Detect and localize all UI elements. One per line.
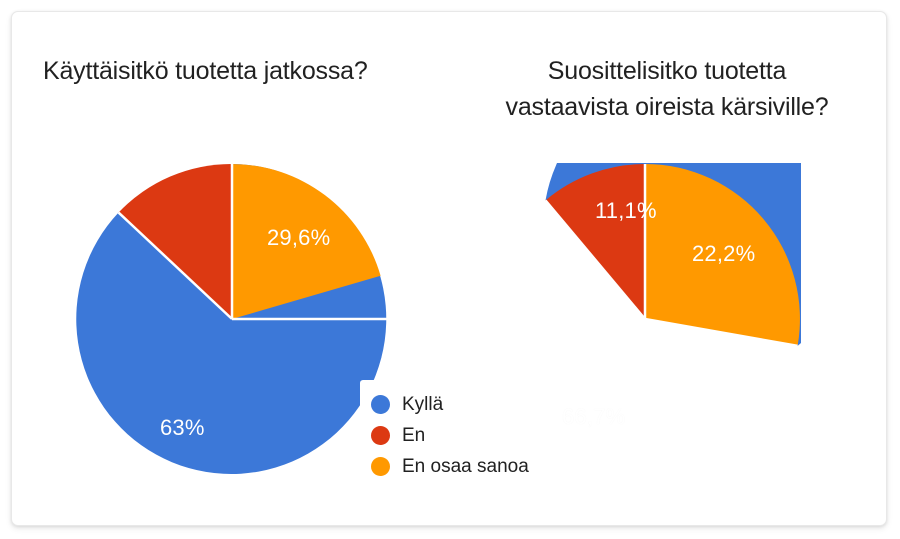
- legend-item-en[interactable]: En: [371, 420, 521, 451]
- chart-legend: Kyllä En En osaa sanoa: [360, 380, 531, 491]
- chart-1-label-blue: 63%: [160, 415, 205, 441]
- charts-canvas: Käyttäisitkö tuotetta jatkossa? 29,6% 63…: [12, 12, 886, 525]
- chart-image-frame: Käyttäisitkö tuotetta jatkossa? 29,6% 63…: [11, 11, 887, 526]
- chart-2-label-orange: 22,2%: [692, 241, 755, 267]
- chart-2-title-line-1: Suosittelisitko tuotetta: [467, 53, 867, 89]
- legend-swatch-circle-en: [371, 426, 390, 445]
- legend-swatch-circle-kylla: [371, 395, 390, 414]
- chart-2-title: Suosittelisitko tuotetta vastaavista oir…: [467, 53, 867, 125]
- chart-1-label-orange: 29,6%: [267, 225, 330, 251]
- chart-2-label-blue: 66,7%: [562, 404, 625, 430]
- chart-2-label-red: 11,1%: [595, 198, 657, 224]
- legend-swatch-circle-en-osaa-sanoa: [371, 457, 390, 476]
- chart-1-title: Käyttäisitkö tuotetta jatkossa?: [43, 53, 368, 89]
- legend-label-en-osaa-sanoa: En osaa sanoa: [402, 457, 529, 476]
- chart-2-title-line-2: vastaavista oireista kärsiville?: [467, 89, 867, 125]
- legend-item-kylla[interactable]: Kyllä: [371, 389, 521, 420]
- legend-label-en: En: [402, 426, 425, 445]
- chart-1-pie: [76, 163, 388, 475]
- chart-1-pie-svg: [76, 163, 388, 475]
- legend-item-en-osaa-sanoa[interactable]: En osaa sanoa: [371, 451, 521, 482]
- legend-label-kylla: Kyllä: [402, 395, 443, 414]
